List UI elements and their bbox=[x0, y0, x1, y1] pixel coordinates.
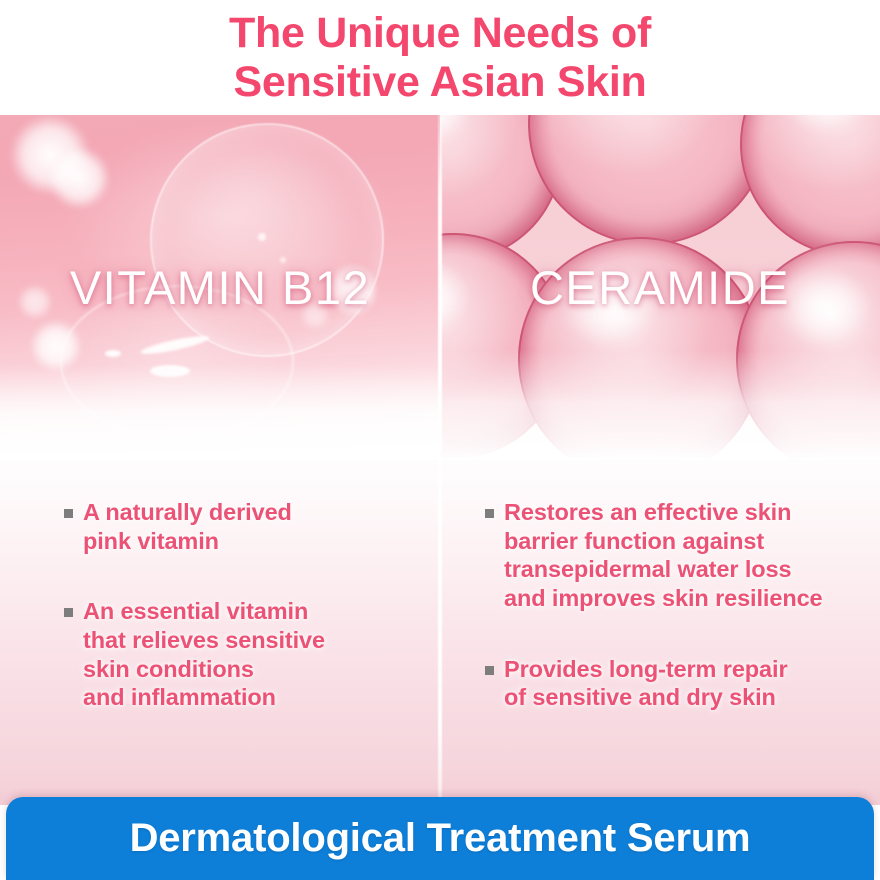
list-item: Provides long-term repair of sensitive a… bbox=[485, 655, 860, 712]
infographic-poster: The Unique Needs of Sensitive Asian Skin… bbox=[0, 0, 880, 880]
photo-fade-right bbox=[440, 350, 880, 460]
bullet-text: Restores an effective skin barrier funct… bbox=[504, 498, 823, 613]
bullet-square-icon bbox=[485, 509, 494, 518]
bullet-square-icon bbox=[485, 666, 494, 675]
column-ceramide: Restores an effective skin barrier funct… bbox=[0, 460, 880, 800]
footer-label: Dermatological Treatment Serum bbox=[130, 816, 751, 861]
title-band: The Unique Needs of Sensitive Asian Skin bbox=[0, 0, 880, 115]
bullet-columns: A naturally derived pink vitamin An esse… bbox=[0, 460, 880, 800]
bokeh-highlight-icon bbox=[48, 147, 110, 209]
photo-vitamin-b12: VITAMIN B12 bbox=[0, 115, 440, 460]
ingredient-label-ceramide: CERAMIDE bbox=[440, 260, 880, 315]
footer-banner: Dermatological Treatment Serum bbox=[6, 797, 874, 880]
photo-fade-left bbox=[0, 365, 440, 460]
sparkle-icon bbox=[258, 233, 266, 241]
sparkle-icon bbox=[105, 350, 121, 357]
photo-ceramide: CERAMIDE bbox=[440, 115, 880, 460]
bullet-text: Provides long-term repair of sensitive a… bbox=[504, 655, 788, 712]
list-item: Restores an effective skin barrier funct… bbox=[485, 498, 860, 613]
ingredient-label-vitamin-b12: VITAMIN B12 bbox=[0, 260, 440, 315]
page-title: The Unique Needs of Sensitive Asian Skin bbox=[209, 9, 671, 105]
